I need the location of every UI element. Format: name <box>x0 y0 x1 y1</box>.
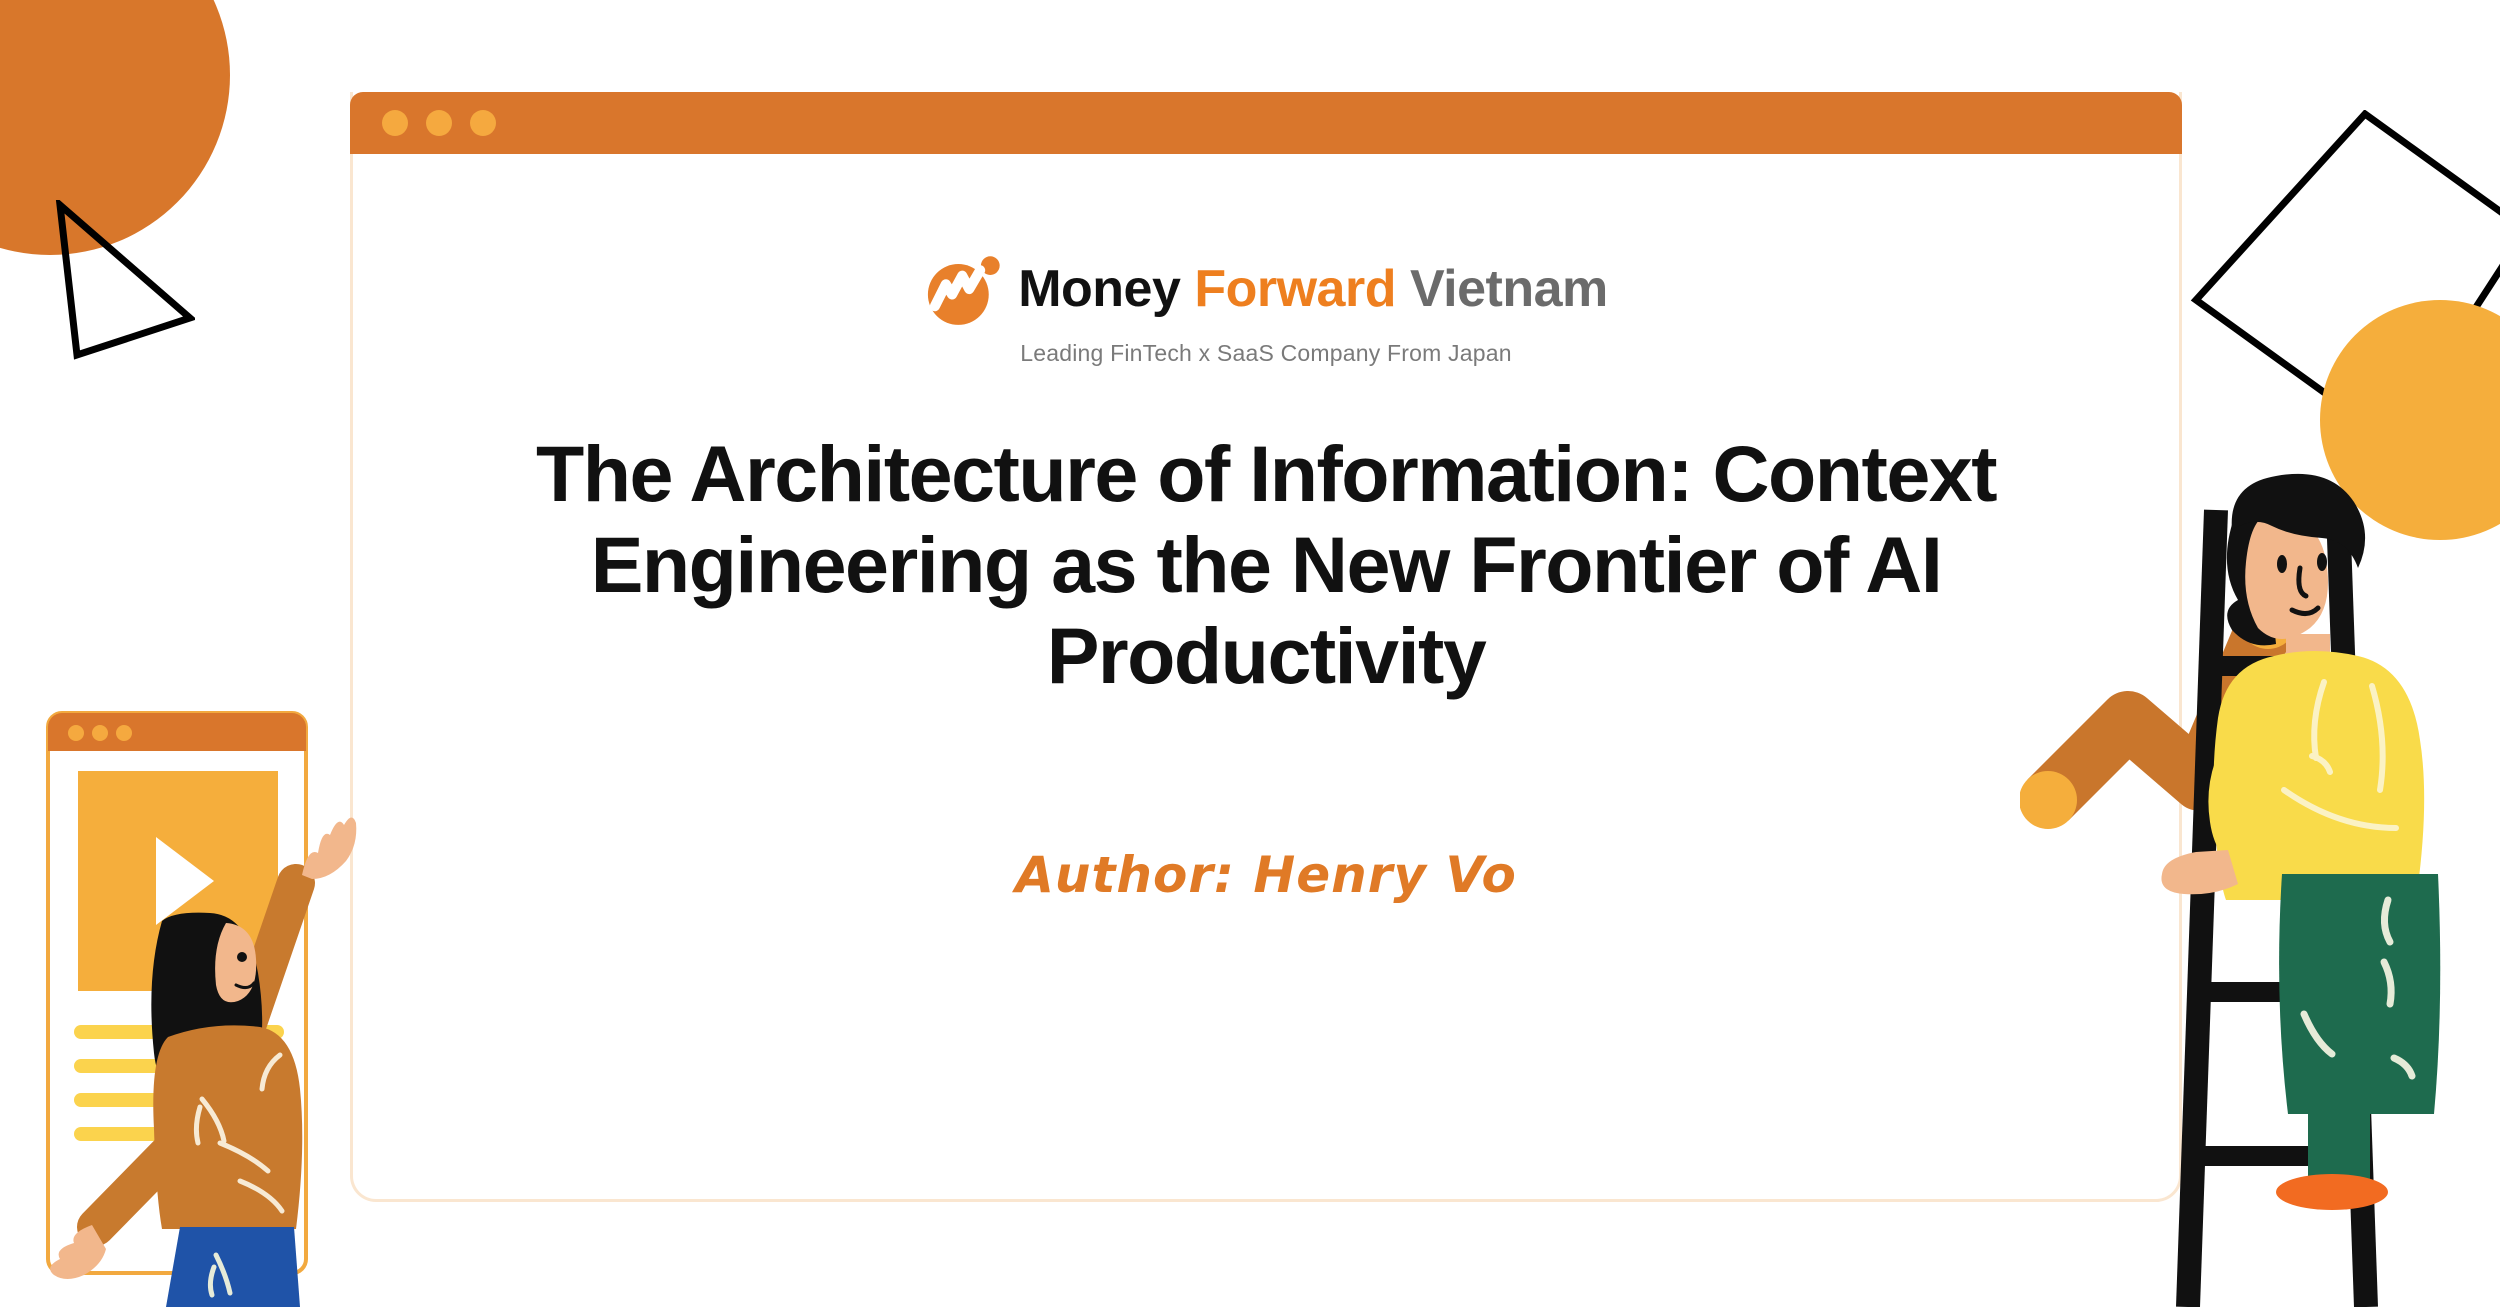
decorative-diamond-top-right <box>2190 110 2500 450</box>
window-minimize-dot[interactable] <box>426 110 452 136</box>
triangle-icon <box>55 200 195 360</box>
logo-word-vietnam: Vietnam <box>1410 260 1608 318</box>
logo-word-forward: Forward <box>1194 260 1396 318</box>
illustration-woman-with-video-mockup <box>44 707 374 1307</box>
slide-content: Money Forward Vietnam Leading FinTech x … <box>350 154 2182 1202</box>
diamond-icon <box>2190 110 2500 450</box>
decorative-triangle-top-left <box>55 200 195 360</box>
logo-wordmark: Money Forward Vietnam <box>1018 263 1608 315</box>
company-logo: Money Forward Vietnam Leading FinTech x … <box>924 250 1608 367</box>
logo-tagline: Leading FinTech x SaaS Company From Japa… <box>1020 340 1511 367</box>
illustration-man-on-ladder <box>2020 470 2500 1307</box>
window-maximize-dot[interactable] <box>470 110 496 136</box>
money-forward-logo-icon <box>924 250 1002 328</box>
woman-video-mockup-graphic <box>44 707 374 1307</box>
logo-word-money: Money <box>1018 260 1180 318</box>
page-title: The Architecture of Information: Context… <box>486 429 2046 702</box>
logo-row: Money Forward Vietnam <box>924 250 1608 328</box>
author-label: Author: Henry Vo <box>1015 846 1517 904</box>
decorative-circle-top-left <box>0 0 230 255</box>
window-close-dot[interactable] <box>382 110 408 136</box>
man-ladder-chart-graphic <box>2020 470 2500 1307</box>
browser-titlebar <box>350 92 2182 154</box>
